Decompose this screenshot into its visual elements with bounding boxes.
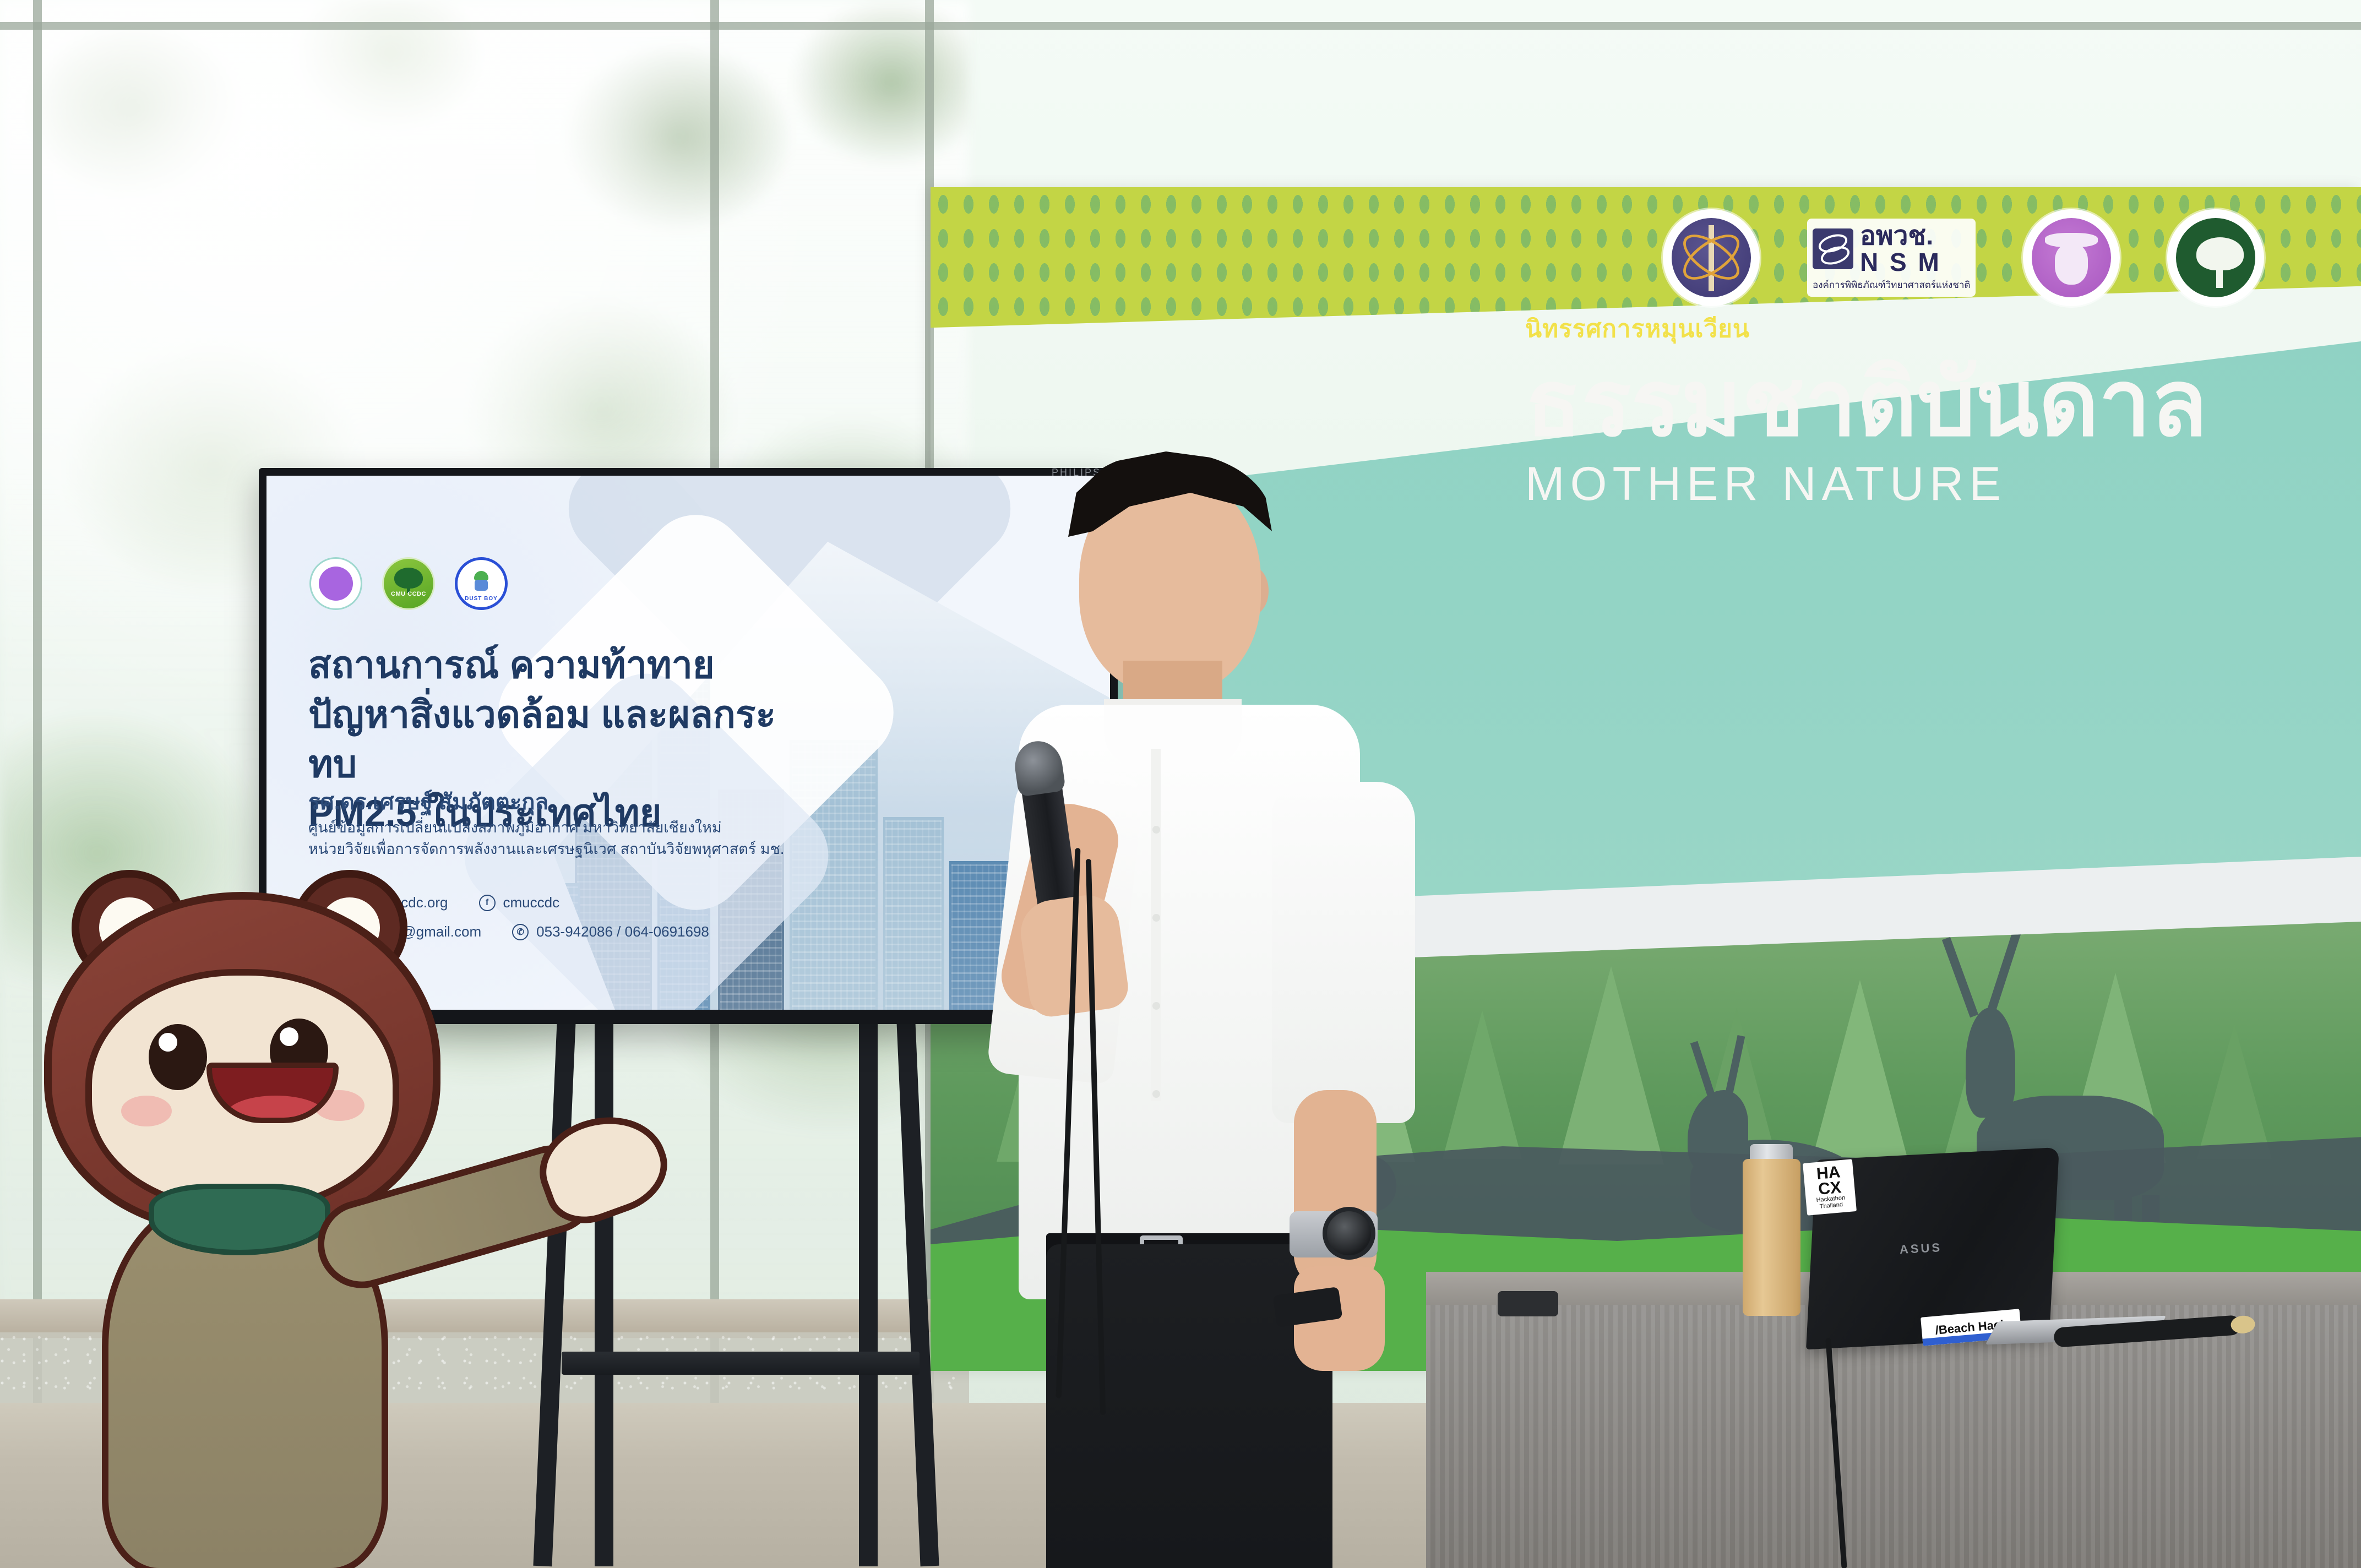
tv-floor-stand: [529, 1021, 936, 1566]
nsm-subtitle: องค์การพิพิธภัณฑ์วิทยาศาสตร์แห่งชาติ: [1813, 277, 1970, 292]
presentation-photo-scene: อพวช. N S M องค์การพิพิธภัณฑ์วิทยาศาสตร์…: [0, 0, 2361, 1568]
presenter-shirt-placket: [1151, 749, 1161, 1101]
banner-title-thai: ธรรมชาติบันดาล: [1525, 355, 2361, 451]
mascot-cheek-left: [121, 1096, 172, 1126]
window-mullion: [0, 22, 2361, 30]
chiang-mai-university-emblem-icon: [2023, 209, 2120, 306]
hacx-sticker: HA CX Hackathon Thailand: [1803, 1159, 1857, 1215]
slide-title-line-2: ปัญหาสิ่งแวดล้อม และผลกระทบ: [308, 690, 793, 790]
banner-title-english: MOTHER NATURE: [1525, 457, 2361, 511]
slide-title-line-1: สถานการณ์ ความท้าทาย: [308, 641, 793, 690]
presenter-remote-on-table: [1498, 1291, 1558, 1316]
shirt-button: [1152, 1002, 1160, 1010]
banner-heading-block: นิทรรศการหมุนเวียน ธรรมชาติบันดาล MOTHER…: [1525, 309, 2361, 511]
bamboo-water-bottle: [1743, 1159, 1800, 1316]
presenter-trousers: [1046, 1244, 1332, 1568]
cmu-elephant-logo-icon: [309, 557, 362, 610]
mascot-eye-left: [149, 1024, 207, 1090]
asus-brand-label: ASUS: [1899, 1240, 1942, 1257]
slide-logo-row: CMU CCDC DUST BOY: [309, 557, 508, 610]
presenter-right-forearm: [1294, 1090, 1377, 1288]
presenter-right-arm: [1272, 782, 1415, 1123]
cmu-ccdc-logo-icon: CMU CCDC: [382, 557, 435, 610]
wristwatch-face: [1323, 1207, 1375, 1260]
ministry-science-emblem-icon: [1663, 209, 1760, 306]
nsm-logo: อพวช. N S M องค์การพิพิธภัณฑ์วิทยาศาสตร์…: [1807, 219, 1976, 297]
dustboy-logo-icon: DUST BOY: [455, 557, 508, 610]
presenter-collar: [1104, 699, 1242, 765]
nsm-mark-icon: [1813, 228, 1853, 269]
mascot-mouth: [206, 1063, 339, 1123]
nsm-english-label: N S M: [1860, 249, 1941, 275]
ccdc-logo-label: CMU CCDC: [384, 591, 433, 597]
dustboy-logo-label: DUST BOY: [458, 596, 505, 602]
forest-tree-emblem-icon: [2167, 209, 2264, 306]
asus-laptop[interactable]: ASUS HA CX Hackathon Thailand /Beach Hac…: [1811, 1153, 2054, 1343]
shirt-button: [1152, 826, 1160, 834]
shirt-button: [1152, 914, 1160, 922]
hacx-sub-2: Thailand: [1819, 1202, 1843, 1210]
mascot-standee: [0, 787, 534, 1568]
nsm-thai-label: อพวช.: [1860, 223, 1941, 249]
banner-eyebrow-text: นิทรรศการหมุนเวียน: [1525, 309, 2361, 348]
banner-logo-row: อพวช. N S M องค์การพิพิธภัณฑ์วิทยาศาสตร์…: [1663, 209, 2264, 306]
tv-stand-shelf: [562, 1352, 920, 1375]
mascot-neckerchief: [149, 1184, 330, 1255]
contact-phone: 053-942086 / 064-0691698: [536, 923, 709, 940]
shirt-button: [1152, 1090, 1160, 1098]
